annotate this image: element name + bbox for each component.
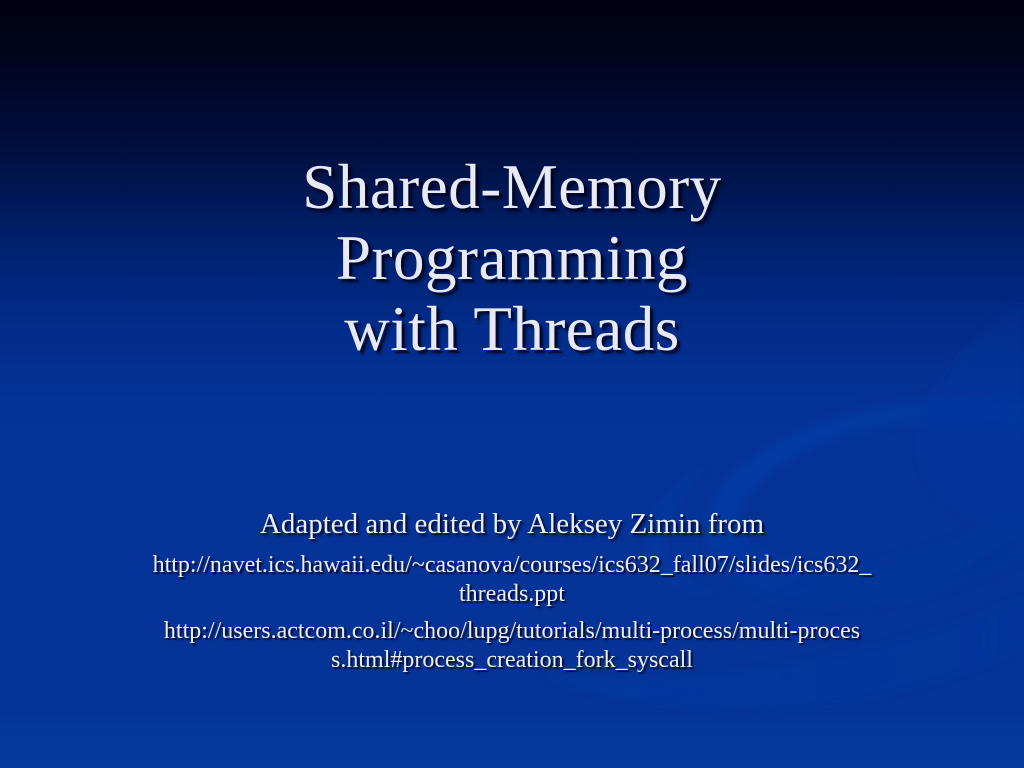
title-line-2: Programming [0,223,1024,294]
slide-content: Shared-Memory Programming with Threads A… [0,0,1024,768]
attribution-credit: Adapted and edited by Aleksey Zimin from [0,506,1024,542]
slide-subtitle: Adapted and edited by Aleksey Zimin from… [0,506,1024,675]
title-line-3: with Threads [0,294,1024,365]
source-url-secondary[interactable]: http://users.actcom.co.il/~choo/lupg/tut… [0,617,1024,675]
source-url-primary[interactable]: http://navet.ics.hawaii.edu/~casanova/co… [0,551,1024,609]
title-line-1: Shared-Memory [0,152,1024,223]
title-slide: Shared-Memory Programming with Threads A… [0,0,1024,768]
slide-title: Shared-Memory Programming with Threads [0,152,1024,365]
